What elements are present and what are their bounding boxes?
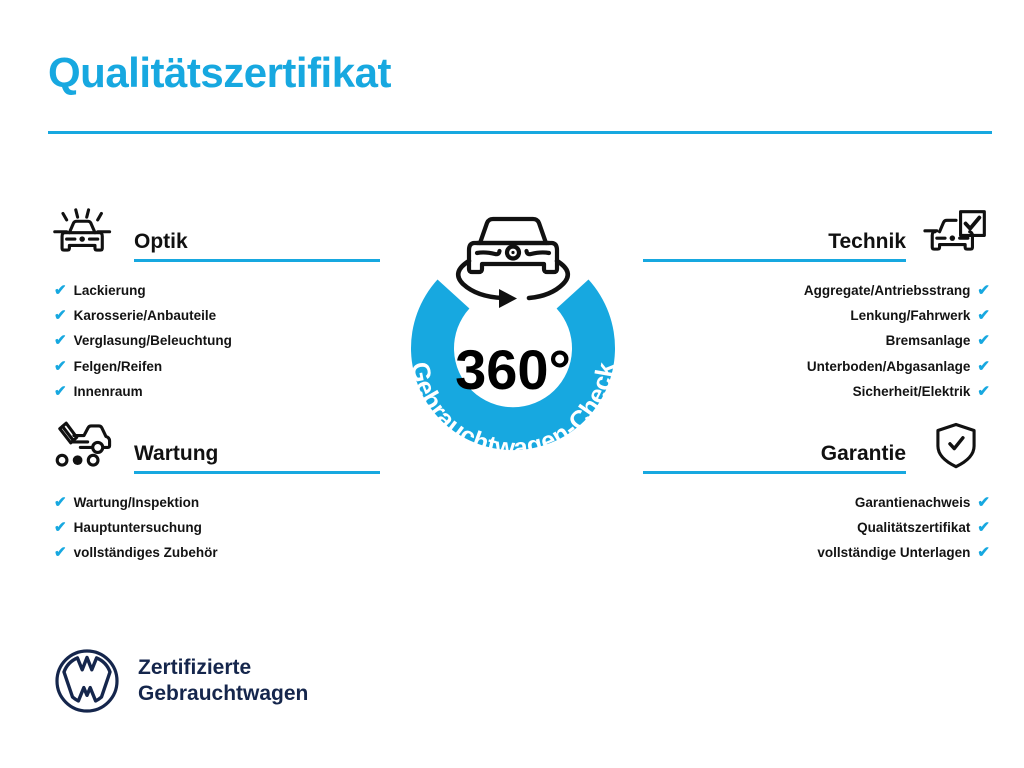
car-shine-icon (48, 205, 120, 263)
certificate-page: Qualitätszertifikat (0, 0, 1024, 768)
list-item: ✔Qualitätszertifikat (643, 520, 992, 545)
section-title: Garantie (643, 442, 906, 471)
check-icon: ✔ (54, 545, 67, 560)
section-title-wrap: Garantie (643, 442, 920, 475)
check-icon: ✔ (54, 495, 67, 510)
list-item-label: Qualitätszertifikat (857, 521, 970, 535)
checklist-optik: ✔Lackierung ✔Karosserie/Anbauteile ✔Verg… (48, 263, 380, 409)
shield-check-icon (920, 417, 992, 475)
checklist-technik: ✔Aggregate/Antriebsstrang ✔Lenkung/Fahrw… (643, 263, 992, 409)
section-underline (134, 259, 380, 262)
check-icon: ✔ (977, 359, 990, 374)
check-icon: ✔ (977, 495, 990, 510)
pencil-car-service-icon (48, 417, 120, 475)
badge-360-gebrauchtwagen-check: Gebrauchtwagen-Check 360° (379, 193, 647, 485)
section-underline (643, 471, 906, 474)
check-icon: ✔ (54, 308, 67, 323)
check-icon: ✔ (977, 308, 990, 323)
list-item-label: vollständiges Zubehör (74, 546, 218, 560)
vw-lockup-line2: Gebrauchtwagen (138, 681, 308, 707)
list-item: ✔Unterboden/Abgasanlage (643, 359, 992, 384)
list-item-label: Hauptuntersuchung (74, 521, 202, 535)
vw-lockup-text: Zertifizierte Gebrauchtwagen (138, 655, 308, 706)
list-item-label: Bremsanlage (886, 334, 971, 348)
list-item: ✔Aggregate/Antriebsstrang (643, 283, 992, 308)
list-item-label: vollständige Unterlagen (817, 546, 970, 560)
list-item: ✔vollständige Unterlagen (643, 545, 992, 570)
badge-center-text: 360° (455, 338, 571, 401)
list-item: ✔Karosserie/Anbauteile (48, 308, 380, 333)
checklist-garantie: ✔Garantienachweis ✔Qualitätszertifikat ✔… (643, 475, 992, 571)
list-item-label: Garantienachweis (855, 496, 971, 510)
list-item-label: Innenraum (74, 385, 143, 399)
check-icon: ✔ (977, 333, 990, 348)
section-title-wrap: Optik (120, 230, 380, 263)
check-icon: ✔ (54, 333, 67, 348)
check-icon: ✔ (54, 384, 67, 399)
list-item-label: Sicherheit/Elektrik (853, 385, 971, 399)
check-icon: ✔ (54, 520, 67, 535)
list-item: ✔Hauptuntersuchung (48, 520, 380, 545)
header-divider (48, 131, 992, 134)
list-item: ✔vollständiges Zubehör (48, 545, 380, 570)
check-icon: ✔ (977, 283, 990, 298)
list-item: ✔Bremsanlage (643, 333, 992, 358)
car-checkbox-icon (920, 205, 992, 263)
section-wartung: Wartung ✔Wartung/Inspektion ✔Hauptunters… (48, 415, 380, 571)
check-icon: ✔ (977, 520, 990, 535)
list-item-label: Unterboden/Abgasanlage (807, 360, 971, 374)
list-item-label: Verglasung/Beleuchtung (74, 334, 232, 348)
list-item: ✔Garantienachweis (643, 495, 992, 520)
vw-certified-lockup: Zertifizierte Gebrauchtwagen (54, 648, 308, 714)
list-item-label: Karosserie/Anbauteile (74, 309, 217, 323)
section-title-wrap: Technik (643, 230, 920, 263)
check-icon: ✔ (54, 283, 67, 298)
section-underline (643, 259, 906, 262)
list-item-label: Felgen/Reifen (74, 360, 163, 374)
section-title: Technik (643, 230, 906, 259)
checklist-wartung: ✔Wartung/Inspektion ✔Hauptuntersuchung ✔… (48, 475, 380, 571)
list-item: ✔Lenkung/Fahrwerk (643, 308, 992, 333)
check-icon: ✔ (977, 545, 990, 560)
list-item: ✔Sicherheit/Elektrik (643, 384, 992, 409)
list-item: ✔Verglasung/Beleuchtung (48, 333, 380, 358)
section-header: Technik (643, 203, 992, 263)
section-underline (134, 471, 380, 474)
section-header: Wartung (48, 415, 380, 475)
list-item-label: Aggregate/Antriebsstrang (804, 284, 971, 298)
page-title: Qualitätszertifikat (48, 52, 391, 94)
section-header: Garantie (643, 415, 992, 475)
list-item: ✔Wartung/Inspektion (48, 495, 380, 520)
car-rotation-icon (458, 219, 568, 308)
list-item: ✔Lackierung (48, 283, 380, 308)
vw-lockup-line1: Zertifizierte (138, 655, 308, 681)
section-garantie: Garantie ✔Garantienachweis ✔Qualitätszer… (643, 415, 992, 571)
check-icon: ✔ (54, 359, 67, 374)
section-header: Optik (48, 203, 380, 263)
vw-logo (54, 648, 120, 714)
list-item-label: Lenkung/Fahrwerk (850, 309, 970, 323)
list-item-label: Lackierung (74, 284, 146, 298)
list-item-label: Wartung/Inspektion (74, 496, 200, 510)
section-technik: Technik ✔Aggregate/Antriebsstrang ✔Lenku… (643, 203, 992, 409)
section-title-wrap: Wartung (120, 442, 380, 475)
section-optik: Optik ✔Lackierung ✔Karosserie/Anbauteile… (48, 203, 380, 409)
section-title: Optik (134, 230, 380, 259)
check-icon: ✔ (977, 384, 990, 399)
list-item: ✔Felgen/Reifen (48, 359, 380, 384)
section-title: Wartung (134, 442, 380, 471)
list-item: ✔Innenraum (48, 384, 380, 409)
